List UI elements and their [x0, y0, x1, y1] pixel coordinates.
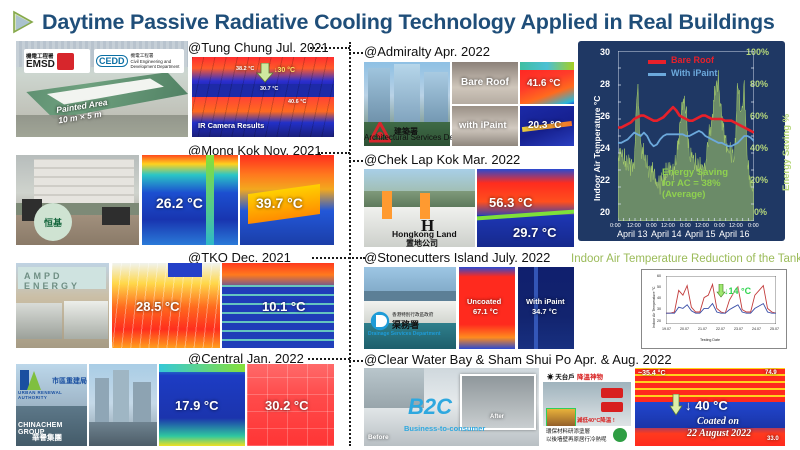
- ir-central-painted: 17.9 °C: [159, 364, 245, 446]
- label-before: Before: [368, 434, 389, 441]
- logo-ampd: AMPD ENERGY: [24, 271, 109, 291]
- label-after: After: [490, 414, 504, 420]
- logo-b2c-sub: Business-to-consumer: [404, 424, 485, 433]
- ir-label-cwb-drop: ↓ 40 °C: [685, 398, 728, 413]
- mini-chart: Indoor Air Temperature °C Testing Date 6…: [641, 269, 787, 349]
- chart-xtick-t8: 0:00: [748, 223, 759, 229]
- ir-label-tung-chung-camera: IR Camera Results: [198, 121, 264, 130]
- ir-central-bare: 30.2 °C: [247, 364, 334, 446]
- logo-ura-cn: 市區重建局: [52, 376, 87, 386]
- label-uncoated: Uncoated: [467, 297, 501, 306]
- photo-b2c-beforeafter: After B2C Business-to-consumer Before: [364, 368, 539, 446]
- caption-chek-lap-kok: @Chek Lap Kok Mar. 2022: [364, 152, 520, 167]
- ir-label-stonecutters-ipaint: 34.7 °C: [532, 307, 557, 316]
- down-arrow-icon: [256, 63, 274, 83]
- ir-clear-water-bay: ~35.4 °C 74.9 33.0 ↓ 40 °C Coated on 22 …: [635, 368, 785, 446]
- mini-xtick-2: 21.07: [698, 327, 707, 331]
- logo-b2c: B2C: [408, 394, 452, 420]
- news-logo-icon: [613, 428, 627, 442]
- mini-xtick-6: 25.07: [770, 327, 779, 331]
- photo-tko-containers: AMPD ENERGY: [16, 263, 109, 348]
- ir-label-mong-kok-painted: 26.2 °C: [156, 195, 203, 211]
- page-title-bar: Daytime Passive Radiative Cooling Techno…: [0, 6, 800, 38]
- logo-cedd-en: Civil Engineering and Development Depart…: [131, 59, 188, 69]
- ir-label-mong-kok-bare: 39.7 °C: [256, 195, 303, 211]
- caption-clear-water-bay: @Clear Water Bay & Sham Shui Po Apr. & A…: [364, 352, 672, 367]
- photo-central-skyline-b: [89, 364, 157, 446]
- chart-annotation-line3: (Average): [662, 189, 705, 200]
- triangle-play-icon: [10, 9, 36, 35]
- ir-label-tung-chung-c: 40.6 °C: [288, 99, 306, 105]
- chart-ytick-30: 30: [600, 47, 610, 57]
- ir-label-tung-chung-b: 30.7 °C: [260, 86, 278, 92]
- logo-cedd-mark: CEDD: [96, 55, 128, 67]
- poster-root: Daytime Passive Radiative Cooling Techno…: [0, 0, 800, 450]
- ir-tko-bare: 28.5 °C: [112, 263, 220, 348]
- logo-henderson-cn: 恒基: [44, 216, 62, 229]
- legend-swatch-with-ipaint: [648, 73, 666, 76]
- legend-label-with-ipaint: With iPaint: [671, 68, 717, 78]
- chart-ylabel-right: Energy Saving %: [781, 114, 792, 191]
- ir-label-central-bare: 30.2 °C: [265, 398, 309, 413]
- news-temp-drop: 減低40°C降溫 !: [577, 416, 615, 424]
- photo-admiralty-bare-roof: Bare Roof: [452, 62, 518, 104]
- chart-ytick-28: 28: [600, 79, 610, 89]
- mini-chart-xlabel: Testing Date: [700, 338, 720, 342]
- ir-label-tung-chung-a: 38.2 °C: [236, 66, 254, 72]
- chart-ytick-right-0: 0%: [754, 207, 767, 217]
- ir-label-cwb-coated-on: Coated on: [697, 416, 739, 427]
- connector-dots-central: [308, 358, 350, 360]
- photo-admiralty-ipaint-roof: with iPaint: [452, 106, 518, 146]
- ir-chek-lap-kok: 56.3 °C 29.7 °C: [477, 169, 574, 247]
- ir-label-chek-lap-kok-bare: 56.3 °C: [489, 195, 533, 210]
- logo-ura-en: URBAN RENEWAL AUTHORITY: [18, 390, 87, 400]
- ir-label-cwb-scale-low: 33.0: [767, 436, 779, 442]
- mini-ytick-20: 20: [657, 319, 661, 323]
- label-bare-roof: Bare Roof: [461, 77, 509, 88]
- hk-bauhinia-icon: [57, 53, 74, 70]
- connector-dots-stonecutters: [349, 257, 365, 259]
- mini-chart-ylabel: Indoor Air Temperature °C: [652, 286, 656, 328]
- ir-label-chek-lap-kok-painted: 29.7 °C: [513, 225, 557, 240]
- photo-chek-lap-kok-roof: H Hongkong Land 置地公司: [364, 169, 475, 247]
- ir-stonecutters-ipaint: With iPaint 34.7 °C: [518, 267, 574, 349]
- ir-label-stonecutters-uncoated: 67.1 °C: [473, 307, 498, 316]
- mini-xtick-3: 22.07: [716, 327, 725, 331]
- logo-dsd-icon: [370, 311, 390, 331]
- chart-annotation-line2: for AC = 38%: [662, 178, 721, 189]
- photo-central-skyline-a: URBAN RENEWAL AUTHORITY 市區重建局 CHINACHEM …: [16, 364, 87, 446]
- ir-label-cwb-scale-high: 74.9: [765, 370, 777, 376]
- legend-swatch-bare-roof: [648, 60, 666, 64]
- mini-down-arrow-icon: [716, 284, 726, 298]
- logo-chinachem-cn: 華譽集團: [32, 432, 62, 443]
- mini-xtick-0: 19.07: [662, 327, 671, 331]
- mini-xtick-4: 23.07: [734, 327, 743, 331]
- news-headline-cn: ☀ 天台戶: [547, 371, 575, 381]
- label-with-ipaint-stonecutters: With iPaint: [526, 297, 565, 306]
- ir-label-cwb-coated-date: 22 August 2022: [687, 428, 751, 439]
- main-chart: 30 28 26 24 22 20 100% 80% 60% 40% 20% 0…: [578, 41, 785, 241]
- chart-xday-1: April 14: [651, 229, 682, 239]
- ir-tung-chung: IR Camera Results ↓30 °C 38.2 °C 30.7 °C…: [192, 57, 334, 137]
- ir-label-admiralty-bare: 41.6 °C: [527, 78, 560, 89]
- page-title: Daytime Passive Radiative Cooling Techno…: [42, 10, 775, 35]
- connector-dots-clearwater: [349, 360, 363, 362]
- mini-chart-title: Indoor Air Temperature Reduction of the …: [571, 253, 800, 265]
- photo-stonecutters-site: 香港特別行政區政府 渠務署 Drainage Services Departme…: [364, 267, 456, 349]
- ir-tko-painted: 10.1 °C: [222, 263, 334, 348]
- mini-ytick-40: 40: [657, 296, 661, 300]
- logo-cedd: CEDD 機電工程署 Civil Engineering and Develop…: [94, 49, 184, 73]
- caption-admiralty: @Admiralty Apr. 2022: [364, 44, 490, 59]
- connector-dots-admiralty: [349, 52, 363, 54]
- ir-label-cwb-max: ~35.4 °C: [638, 370, 666, 377]
- down-arrow-icon-cwb: [669, 394, 683, 416]
- legend-label-bare-roof: Bare Roof: [671, 55, 714, 65]
- photo-tung-chung-roof: Painted Area 10 m × 5 m 機電工程署 EMSD CEDD …: [16, 41, 188, 137]
- news-footer-1: 環保材料研添塗層: [546, 427, 590, 435]
- mini-chart-annotation: ↓14 °C: [724, 286, 751, 296]
- logo-hongkong-land-cn: 置地公司: [406, 238, 438, 247]
- logo-emsd-en: EMSD: [26, 61, 55, 69]
- ir-label-central-painted: 17.9 °C: [175, 398, 219, 413]
- news-footer-2: 以後墙壁再原居行冷熱呢: [546, 435, 607, 443]
- column-divider-dots: [349, 42, 351, 446]
- caption-tung-chung: @Tung Chung Jul. 2021: [188, 40, 329, 55]
- mini-ytick-60: 60: [657, 274, 661, 278]
- ir-label-admiralty-ipaint: 20.3 °C: [528, 120, 561, 131]
- ir-stonecutters-uncoated: Uncoated 67.1 °C: [459, 267, 515, 349]
- label-with-ipaint-admiralty: with iPaint: [459, 120, 507, 131]
- chart-xday-2: April 15: [685, 229, 716, 239]
- mini-ytick-30: 30: [657, 307, 661, 311]
- chart-annotation-line1: Energy Saving: [662, 167, 728, 178]
- ir-mong-kok-painted: 26.2 °C: [142, 155, 238, 245]
- chart-xday-3: April 16: [719, 229, 750, 239]
- photo-news-clip: ☀ 天台戶 降溫神物 減低40°C降溫 ! 環保材料研添塗層 以後墙壁再原居行冷…: [543, 368, 631, 446]
- logo-dsd-en: Drainage Services Department: [368, 331, 441, 337]
- news-headline-red: 降溫神物: [577, 371, 603, 381]
- chart-xday-0: April 13: [617, 229, 648, 239]
- logo-dsd-cn: 渠務署: [392, 318, 419, 331]
- chart-ytick-20: 20: [600, 207, 610, 217]
- chart-ylabel-left: Indoor Air Temperature °C: [592, 96, 602, 201]
- ir-admiralty-ipaint: 20.3 °C: [520, 106, 574, 146]
- logo-henderson: 恒基: [34, 203, 72, 241]
- ir-admiralty-bare-roof: 41.6 °C: [520, 62, 574, 104]
- mini-xtick-1: 20.07: [680, 327, 689, 331]
- ir-label-tko-bare: 28.5 °C: [136, 299, 180, 314]
- connector-dots-cheklapkok: [349, 160, 363, 162]
- ir-label-tko-painted: 10.1 °C: [262, 299, 306, 314]
- photo-mong-kok-site: 恒基: [16, 155, 139, 245]
- logo-emsd: 機電工程署 EMSD: [24, 49, 90, 73]
- mini-xtick-5: 24.07: [752, 327, 761, 331]
- ir-label-tung-chung-drop: ↓30 °C: [274, 67, 295, 74]
- caption-stonecutters-island: @Stonecutters Island July. 2022: [364, 250, 550, 265]
- mini-ytick-50: 50: [657, 285, 661, 289]
- connector-dots-mongkok: [318, 152, 350, 154]
- ir-mong-kok-bare: 39.7 °C: [240, 155, 334, 245]
- connector-dots-tko: [312, 257, 350, 259]
